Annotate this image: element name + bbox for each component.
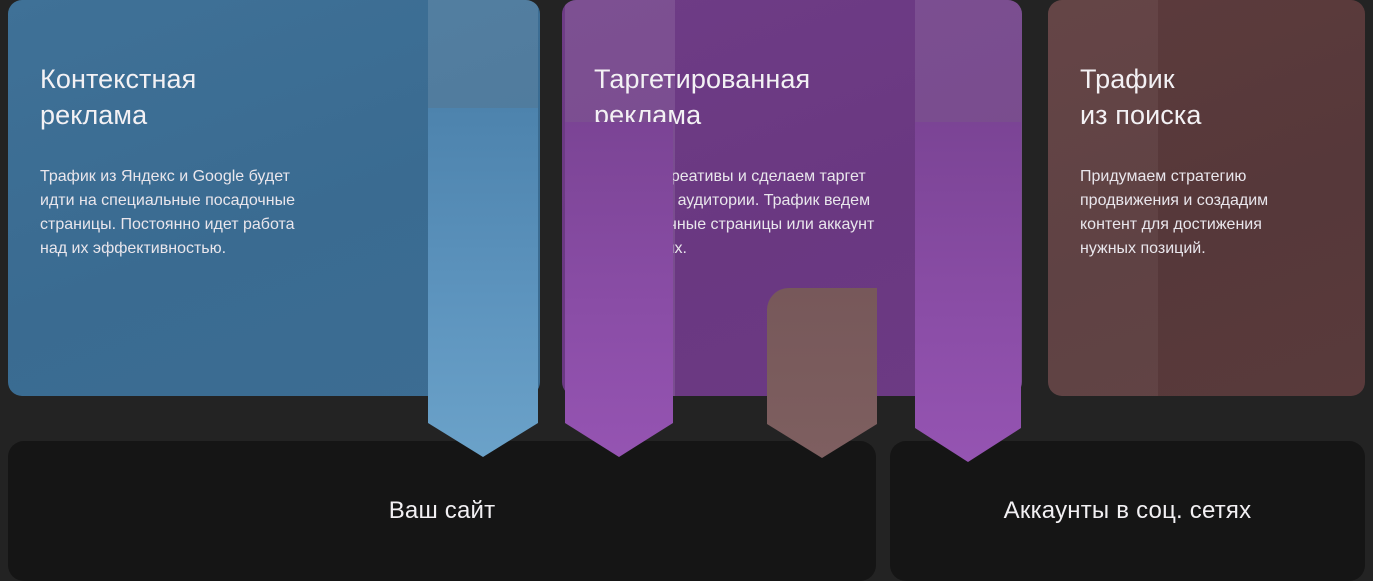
traffic-flow-diagram: Контекстная реклама Трафик из Яндекс и G…	[0, 0, 1373, 581]
source-card-title: Трафик из поиска	[1080, 62, 1333, 133]
arrow-down-icon-target-to-social	[915, 122, 1021, 462]
destination-label: Ваш сайт	[389, 497, 496, 525]
arrow-down-icon-search-to-site	[767, 288, 877, 458]
arrow-down-icon-target-to-site	[565, 122, 673, 457]
source-card-search-traffic[interactable]: Трафик из поиска Придумаем стратегию про…	[1048, 0, 1365, 396]
arrow-down-icon-context-to-site	[428, 108, 538, 457]
destination-box-your-site[interactable]: Ваш сайт	[8, 441, 876, 581]
destination-box-social-accounts[interactable]: Аккаунты в соц. сетях	[890, 441, 1365, 581]
destination-label: Аккаунты в соц. сетях	[1004, 497, 1252, 525]
source-card-description: Придумаем стратегию продвижения и создад…	[1080, 165, 1333, 261]
